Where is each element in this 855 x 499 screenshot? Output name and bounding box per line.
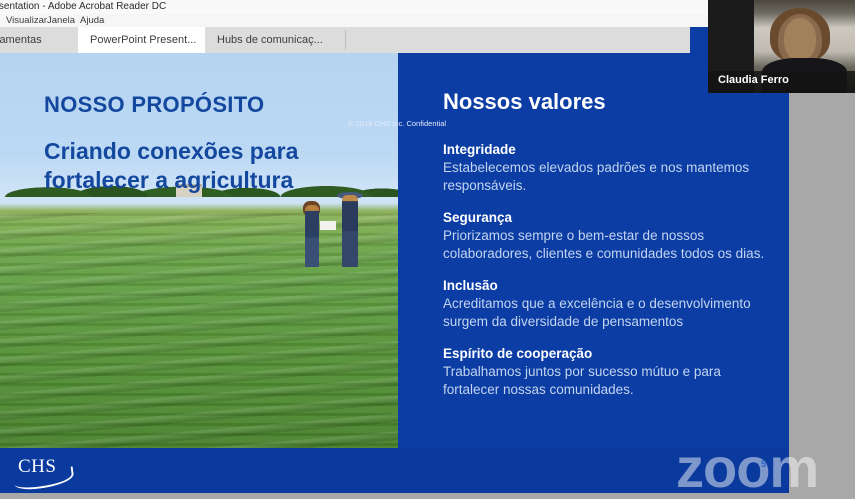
value-block-integridade: Integridade Estabelecemos elevados padrõ… xyxy=(443,141,773,195)
zoom-watermark: zoom xyxy=(676,440,818,496)
menu-item-ajuda[interactable]: Ajuda xyxy=(80,14,104,27)
value-body: Priorizamos sempre o bem-estar de nossos… xyxy=(443,227,773,263)
value-heading: Inclusão xyxy=(443,277,773,295)
person-man xyxy=(342,195,358,267)
value-block-espirito-de-cooperacao: Espírito de cooperação Trabalhamos junto… xyxy=(443,345,773,399)
tab-powerpoint-presentation[interactable]: PowerPoint Present... ✕ xyxy=(78,27,225,53)
tab-divider xyxy=(345,30,346,50)
values-panel-title: Nossos valores xyxy=(443,89,606,115)
slide-footer: CHS xyxy=(0,448,789,493)
participant-name-label: Claudia Ferro xyxy=(718,74,789,86)
participant-video-tile[interactable]: Claudia Ferro xyxy=(708,0,855,93)
menu-item-visualizar[interactable]: Visualizar xyxy=(6,14,47,27)
window-title: resentation - Adobe Acrobat Reader DC xyxy=(0,0,166,14)
value-body: Estabelecemos elevados padrões e nos man… xyxy=(443,159,773,195)
tab-ferramentas[interactable]: erramentas xyxy=(0,27,86,53)
menu-item-janela[interactable]: Janela xyxy=(47,14,75,27)
value-heading: Segurança xyxy=(443,209,773,227)
copyright-text: © 2019 CHS Inc. Confidential xyxy=(348,119,446,128)
participant-face xyxy=(784,18,816,60)
person-woman xyxy=(305,205,319,267)
presentation-slide: NOSSO PROPÓSITO Criando conexões para fo… xyxy=(0,53,789,493)
values-panel: Nossos valores Integridade Estabelecemos… xyxy=(398,53,789,448)
paper-document-prop xyxy=(320,221,336,230)
value-heading: Integridade xyxy=(443,141,773,159)
values-list: Integridade Estabelecemos elevados padrõ… xyxy=(443,141,773,413)
value-block-seguranca: Segurança Priorizamos sempre o bem-estar… xyxy=(443,209,773,263)
tab-powerpoint-label: PowerPoint Present... xyxy=(90,34,196,46)
participant-name-bar: Claudia Ferro xyxy=(708,71,855,93)
value-body: Acreditamos que a excelência e o desenvo… xyxy=(443,295,773,331)
value-body: Trabalhamos juntos por sucesso mútuo e p… xyxy=(443,363,773,399)
slide-page-number: 5 xyxy=(761,459,766,469)
value-heading: Espírito de cooperação xyxy=(443,345,773,363)
slide-headline-text: Criando conexões para fortalecer a agric… xyxy=(44,137,384,195)
chs-logo: CHS xyxy=(14,456,74,486)
crop-rows xyxy=(0,213,398,448)
slide-edge-strip xyxy=(690,27,708,93)
slide-eyebrow-text: NOSSO PROPÓSITO xyxy=(44,92,264,118)
tab-hubs-de-comunicacao[interactable]: Hubs de comunicaç... xyxy=(205,27,357,53)
value-block-inclusao: Inclusão Acreditamos que a excelência e … xyxy=(443,277,773,331)
